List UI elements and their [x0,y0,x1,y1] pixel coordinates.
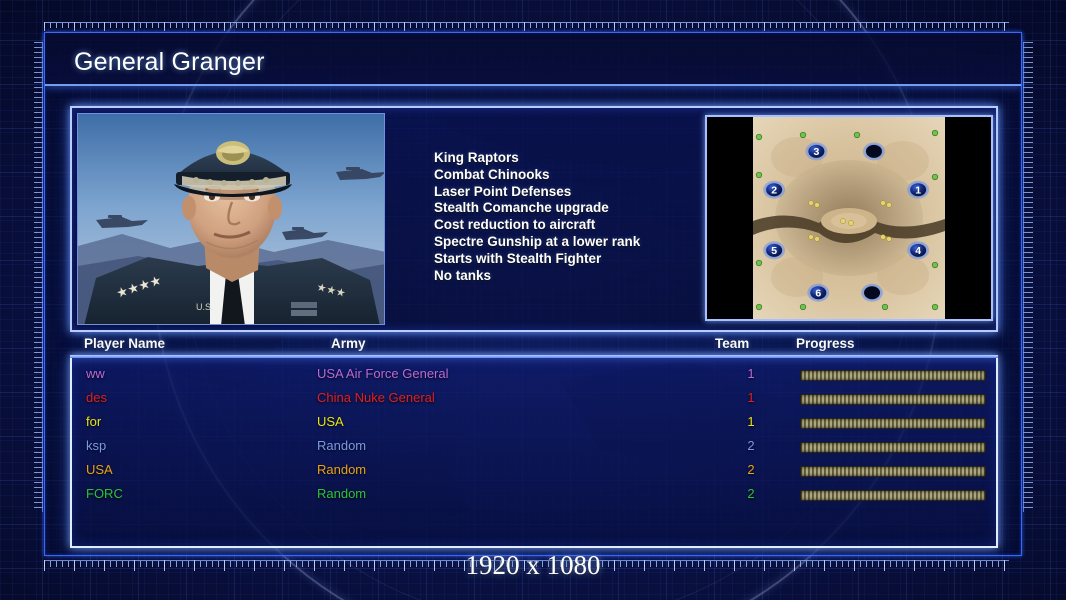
minimap-image: 321546 [707,117,991,319]
player-team: 2 [740,462,762,477]
map-start-position[interactable]: 6 [807,284,829,302]
progress-bar [800,442,986,453]
map-start-position-label: 3 [813,146,819,158]
progress-bar [800,466,986,477]
ability-item: Starts with Stealth Fighter [434,251,640,268]
player-team: 1 [740,366,762,381]
ability-item: Laser Point Defenses [434,184,640,201]
map-start-position[interactable]: 3 [805,142,827,160]
map-start-position-label: 1 [915,185,921,197]
player-army: Random [317,462,366,477]
player-army: USA Air Force General [317,366,449,381]
column-header-player-name: Player Name [84,336,165,351]
map-start-position[interactable]: 2 [763,181,785,199]
player-name: des [86,390,107,405]
column-header-progress: Progress [796,336,855,351]
general-portrait: ★★★★ ★★★ U.S. [77,113,385,325]
table-row[interactable]: USARandom2 [72,462,996,486]
ability-item: No tanks [434,268,640,285]
progress-bar [800,370,986,381]
player-name: ksp [86,438,106,453]
ability-item: Cost reduction to aircraft [434,217,640,234]
player-list-header: Player Name Army Team Progress [70,336,998,355]
map-start-position[interactable] [861,284,883,302]
table-row[interactable]: forUSA1 [72,414,996,438]
table-row[interactable]: desChina Nuke General1 [72,390,996,414]
svg-text:U.S.: U.S. [196,302,214,312]
table-row[interactable]: wwUSA Air Force General1 [72,366,996,390]
column-header-team: Team [715,336,749,351]
column-header-army: Army [331,336,366,351]
ability-item: King Raptors [434,150,640,167]
player-team: 2 [740,438,762,453]
map-start-position[interactable]: 4 [907,241,929,259]
map-start-position[interactable] [863,142,885,160]
player-name: USA [86,462,113,477]
resolution-label: 1920 x 1080 [0,550,1066,581]
page-title: General Granger [74,48,265,77]
map-preview[interactable]: 321546 [705,115,993,321]
map-start-position-label: 6 [815,288,821,300]
table-row[interactable]: kspRandom2 [72,438,996,462]
player-team: 2 [740,486,762,501]
player-name: ww [86,366,105,381]
progress-bar [800,490,986,501]
general-info-panel: ★★★★ ★★★ U.S. King Raptors Combat Chinoo… [70,106,998,332]
player-army: USA [317,414,344,429]
table-row[interactable]: FORCRandom2 [72,486,996,510]
player-name: for [86,414,101,429]
player-list-panel: wwUSA Air Force General1desChina Nuke Ge… [70,358,998,548]
player-team: 1 [740,414,762,429]
progress-bar [800,418,986,429]
ability-item: Stealth Comanche upgrade [434,200,640,217]
ability-item: Spectre Gunship at a lower rank [434,234,640,251]
map-start-position-label: 5 [771,245,777,257]
general-ability-list: King Raptors Combat Chinooks Laser Point… [434,150,640,284]
player-army: Random [317,486,366,501]
player-army: Random [317,438,366,453]
ability-item: Combat Chinooks [434,167,640,184]
map-start-position-label: 4 [915,245,921,257]
player-name: FORC [86,486,123,501]
player-army: China Nuke General [317,390,435,405]
map-start-position[interactable]: 5 [763,241,785,259]
map-start-position[interactable]: 1 [907,181,929,199]
progress-bar [800,394,986,405]
player-team: 1 [740,390,762,405]
map-start-position-label: 2 [771,185,777,197]
